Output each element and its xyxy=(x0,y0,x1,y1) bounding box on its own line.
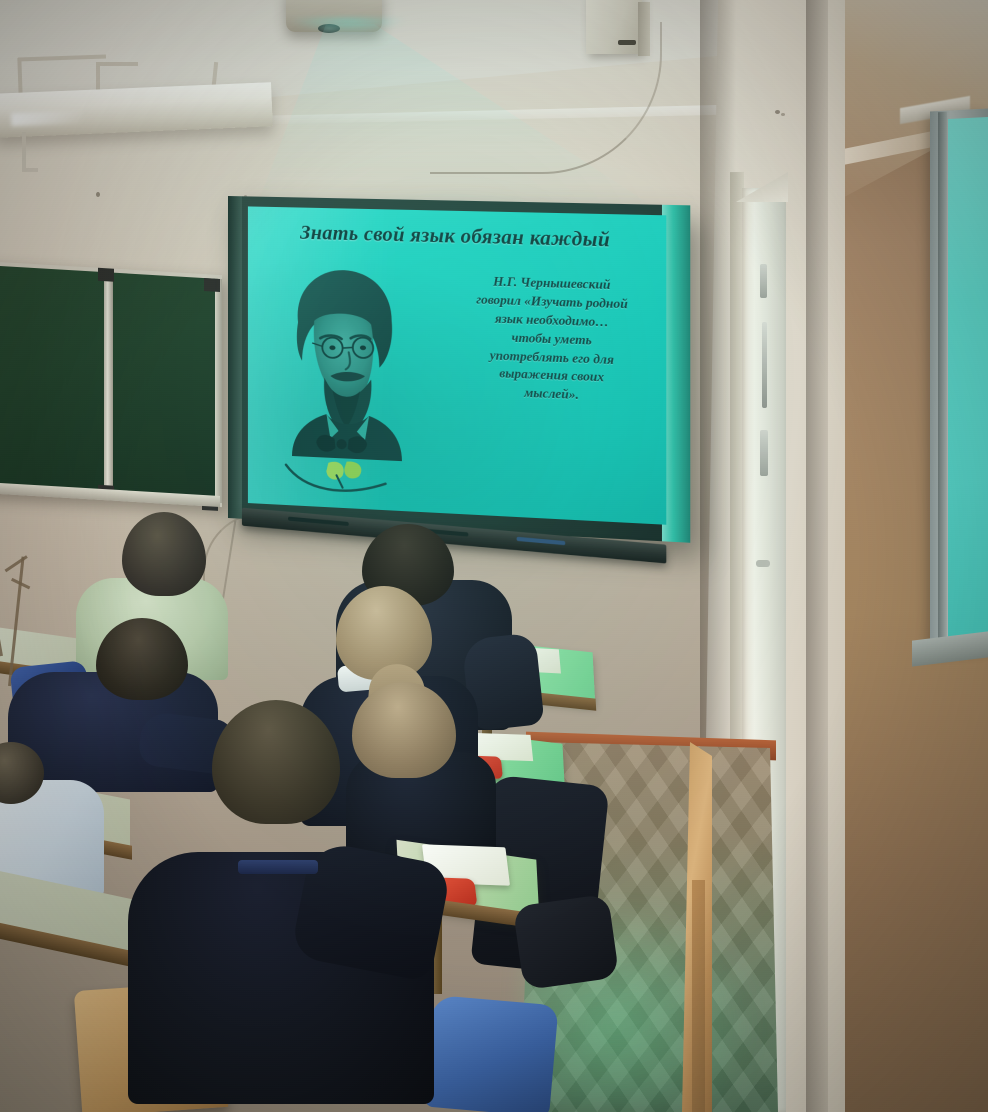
chernyshevsky-portrait-icon xyxy=(278,259,410,461)
doorway-reveal xyxy=(806,0,828,1112)
chalkboard-corner xyxy=(204,278,220,292)
chalkboard-divider xyxy=(104,270,113,499)
chalkboard-rail xyxy=(215,279,222,503)
classroom-photo: Знать свой язык обязан каждый xyxy=(0,0,988,1112)
lamp-bracket xyxy=(96,62,138,66)
interactive-whiteboard[interactable]: Знать свой язык обязан каждый xyxy=(228,196,690,543)
glass-panel xyxy=(948,117,988,639)
door-hinge-icon xyxy=(760,264,767,298)
chalkboard xyxy=(0,261,222,507)
whiteboard-frame-left xyxy=(228,196,242,519)
glass-panel-mullion xyxy=(938,112,947,648)
wall-hook xyxy=(22,168,38,172)
wooden-rail-post xyxy=(692,880,705,1112)
door-plate-icon xyxy=(760,430,768,476)
slide-quote: Н.Г. Чернышевский говорил «Изучать родно… xyxy=(454,272,651,408)
wall-hook xyxy=(22,132,26,172)
wall-speck xyxy=(775,110,780,114)
student-foreground-boy-collar xyxy=(238,860,318,874)
pen-slot xyxy=(517,537,566,545)
black-bag xyxy=(513,894,620,991)
projector-glow xyxy=(288,18,408,34)
wall-speck xyxy=(781,113,785,116)
door-latch-icon xyxy=(762,322,767,408)
door-handle-icon[interactable] xyxy=(756,560,770,567)
leaf-decoration-icon xyxy=(284,455,406,503)
chalkboard-corner xyxy=(98,268,114,282)
student-long-hair-head xyxy=(352,682,456,778)
blue-backpack-floor xyxy=(423,995,558,1112)
projected-slide: Знать свой язык обязан каждый xyxy=(248,206,666,524)
pen-slot xyxy=(288,517,349,526)
wall-speck xyxy=(96,192,100,197)
